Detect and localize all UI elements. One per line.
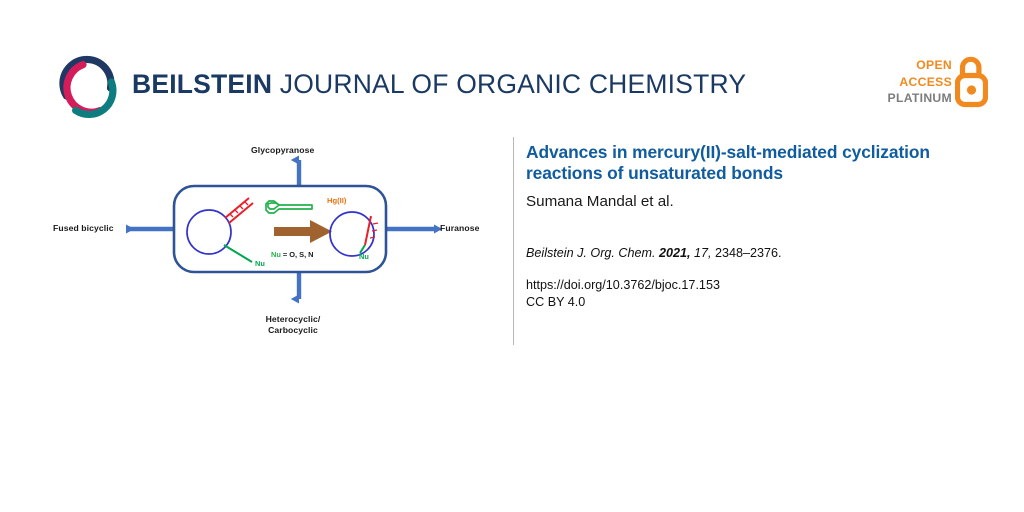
open-access-badge: OPEN ACCESS PLATINUM [884,56,988,112]
citation-journal: Beilstein J. Org. Chem. [526,246,655,260]
graphical-abstract-figure: Nu Hg(II) Nu = O, S, N [40,134,510,346]
journal-masthead: BEILSTEIN JOURNAL OF ORGANIC CHEMISTRY O… [0,0,1024,132]
vertical-divider [513,137,514,345]
abstract-label-heterocyclic-line2: Carbocyclic [268,325,318,335]
open-access-line-open: OPEN [888,57,952,74]
nucleophile-legend: Nu = O, S, N [271,250,314,259]
nucleophile-label-left: Nu [255,259,265,268]
article-authors: Sumana Mandal et al. [526,193,976,211]
open-access-line-access: ACCESS [888,74,952,91]
journal-wordmark: BEILSTEIN JOURNAL OF ORGANIC CHEMISTRY [132,69,746,100]
article-title: Advances in mercury(II)-salt-mediated cy… [526,142,976,184]
abstract-label-heterocyclic-carbocyclic: Heterocyclic/ Carbocyclic [248,314,338,336]
citation-year: 2021, [659,246,691,260]
open-access-line-platinum: PLATINUM [888,90,952,107]
abstract-label-glycopyranose: Glycopyranose [251,145,314,156]
article-citation: Beilstein J. Org. Chem. 2021, 17, 2348–2… [526,245,976,261]
reagent-label: Hg(II) [327,196,347,205]
wordmark-light: JOURNAL OF ORGANIC CHEMISTRY [272,69,746,99]
nucleophile-label-right: Nu [359,252,369,261]
wordmark-bold: BEILSTEIN [132,69,272,99]
abstract-label-heterocyclic-line1: Heterocyclic/ [266,314,321,324]
article-doi-link[interactable]: https://doi.org/10.3762/bjoc.17.153 [526,277,976,294]
article-license: CC BY 4.0 [526,294,976,311]
article-metadata-panel: Advances in mercury(II)-salt-mediated cy… [526,142,976,310]
beilstein-swirl-logo-icon [54,54,122,122]
citation-volume: 17, [694,246,712,260]
abstract-label-fused-bicyclic: Fused bicyclic [53,223,114,234]
citation-pages: 2348–2376. [715,246,782,260]
open-lock-icon [955,56,988,108]
open-access-text: OPEN ACCESS PLATINUM [888,57,952,107]
abstract-label-furanose: Furanose [440,223,479,234]
